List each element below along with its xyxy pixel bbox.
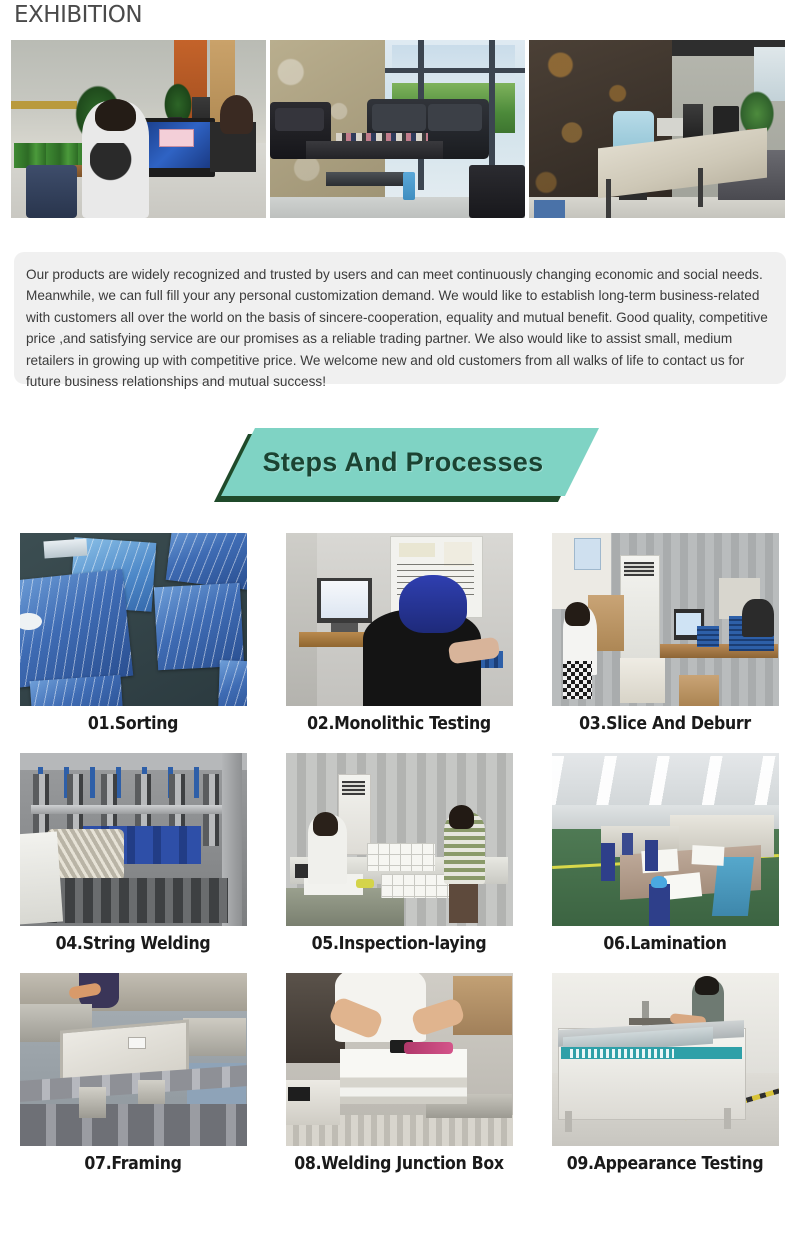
carton-box [679,675,720,706]
coffee-table [306,141,444,159]
armchair-cushion [275,108,323,131]
floor-box [534,200,565,218]
banner-title: Steps And Processes [214,428,592,496]
step-inspection-laying: 05.Inspection-laying [266,753,532,965]
step-label: 05.Inspection-laying [312,934,487,954]
person-head [95,99,136,131]
white-panel [20,831,64,924]
laminate-sheet [664,872,703,900]
step-slice-and-deburr: 03.Slice And Deburr [532,533,798,745]
sofa-cushion [428,104,482,131]
step-label: 03.Slice And Deburr [579,714,751,734]
junction-part [128,1037,146,1049]
person-background [220,95,253,134]
printer [657,118,683,136]
step-label: 06.Lamination [603,934,726,954]
steps-row: 07.Framing 08.Welding Junction Box [0,973,800,1185]
air-conditioner-vent [342,781,365,795]
office-workstation-photo [11,40,266,218]
step-string-welding: 04.String Welding [0,753,266,965]
operator-trousers [563,661,593,699]
page-title: EXHIBITION [14,2,142,28]
plant-icon [739,90,775,133]
wall-edge [286,533,318,706]
manager-office-photo [529,40,785,218]
step-label: 01.Sorting [88,714,178,734]
step-label: 07.Framing [84,1154,181,1174]
step-monolithic-testing-photo [286,533,513,706]
posted-note [399,543,435,557]
step-slice-and-deburr-photo [552,533,779,706]
tester-label-text [570,1049,674,1058]
monitor-stand [331,623,358,632]
step-lamination: 06.Lamination [532,753,798,965]
machine-rail [20,1104,247,1146]
screen-dialog [159,129,194,147]
solar-panel [367,843,435,871]
step-label: 02.Monolithic Testing [307,714,491,734]
air-conditioner-vent [624,562,654,576]
step-welding-junction-box: 08.Welding Junction Box [266,973,532,1185]
steps-banner: Steps And Processes [214,428,594,508]
clamp-block [79,1087,106,1118]
poster [574,538,601,569]
step-label: 04.String Welding [56,934,211,954]
water-bottle [403,172,416,200]
step-inspection-laying-photo [286,753,513,926]
desk-leg [606,179,611,218]
step-framing: 07.Framing [0,973,266,1185]
sofa-cushion [372,104,426,131]
steps-row: 04.String Welding 05.Inspection-la [0,753,800,965]
step-appearance-testing-photo [552,973,779,1146]
step-appearance-testing: 09.Appearance Testing [532,973,798,1185]
glass-shelf [326,172,413,186]
carton-box [453,976,512,1035]
reception-lounge-photo [270,40,525,218]
step-label: 09.Appearance Testing [567,1154,764,1174]
step-sorting-photo [20,533,247,706]
cable-harness [404,1042,454,1054]
company-description-text: Our products are widely recognized and t… [26,264,774,392]
ceiling-lights [552,756,779,808]
posted-note [444,542,471,566]
solar-panel [381,874,449,898]
step-welding-junction-box-photo [286,973,513,1146]
guide-rail [31,805,222,814]
step-sorting: 01.Sorting [0,533,266,745]
solar-cell [154,583,244,670]
operator-trousers [449,878,479,923]
white-tray [44,538,88,558]
step-label: 08.Welding Junction Box [294,1154,503,1174]
visitor-chair [469,165,525,218]
laminate-sheet [692,846,725,867]
office-chair [26,165,77,218]
step-string-welding-photo [20,753,247,926]
framing-machine [183,1018,247,1056]
operator-head [313,812,338,836]
panel-stack [340,1049,467,1104]
yellow-tool [356,879,374,888]
operator-head [565,602,590,626]
monitor-screen [321,581,369,617]
operator-head [399,575,467,634]
worker [645,840,659,871]
desk-leg [698,168,703,207]
machine-leg [565,1111,572,1132]
shirt-pattern [90,143,141,196]
worker [649,884,669,926]
company-description-panel: Our products are widely recognized and t… [14,252,786,384]
solar-cell [30,675,123,706]
step-lamination-photo [552,753,779,926]
worker-cap [651,876,667,888]
step-framing-photo [20,973,247,1146]
carton-box [620,658,665,703]
operator-head [449,805,474,829]
solar-cell [166,533,246,590]
steps-grid: 01.Sorting 02.Monolithic Testing [0,533,800,1193]
window-frame-horizontal [385,68,525,73]
steps-row: 01.Sorting 02.Monolithic Testing [0,533,800,745]
worker [622,833,633,855]
operator [742,599,774,637]
solar-cell [218,660,246,706]
cell-tray [697,626,720,647]
clamp [288,1087,311,1101]
exhibition-photo-strip [11,40,789,218]
worker [601,843,615,881]
wall-trim [11,101,77,110]
machine-leg [724,1108,731,1129]
operator-head [695,976,720,995]
step-monolithic-testing: 02.Monolithic Testing [266,533,532,745]
